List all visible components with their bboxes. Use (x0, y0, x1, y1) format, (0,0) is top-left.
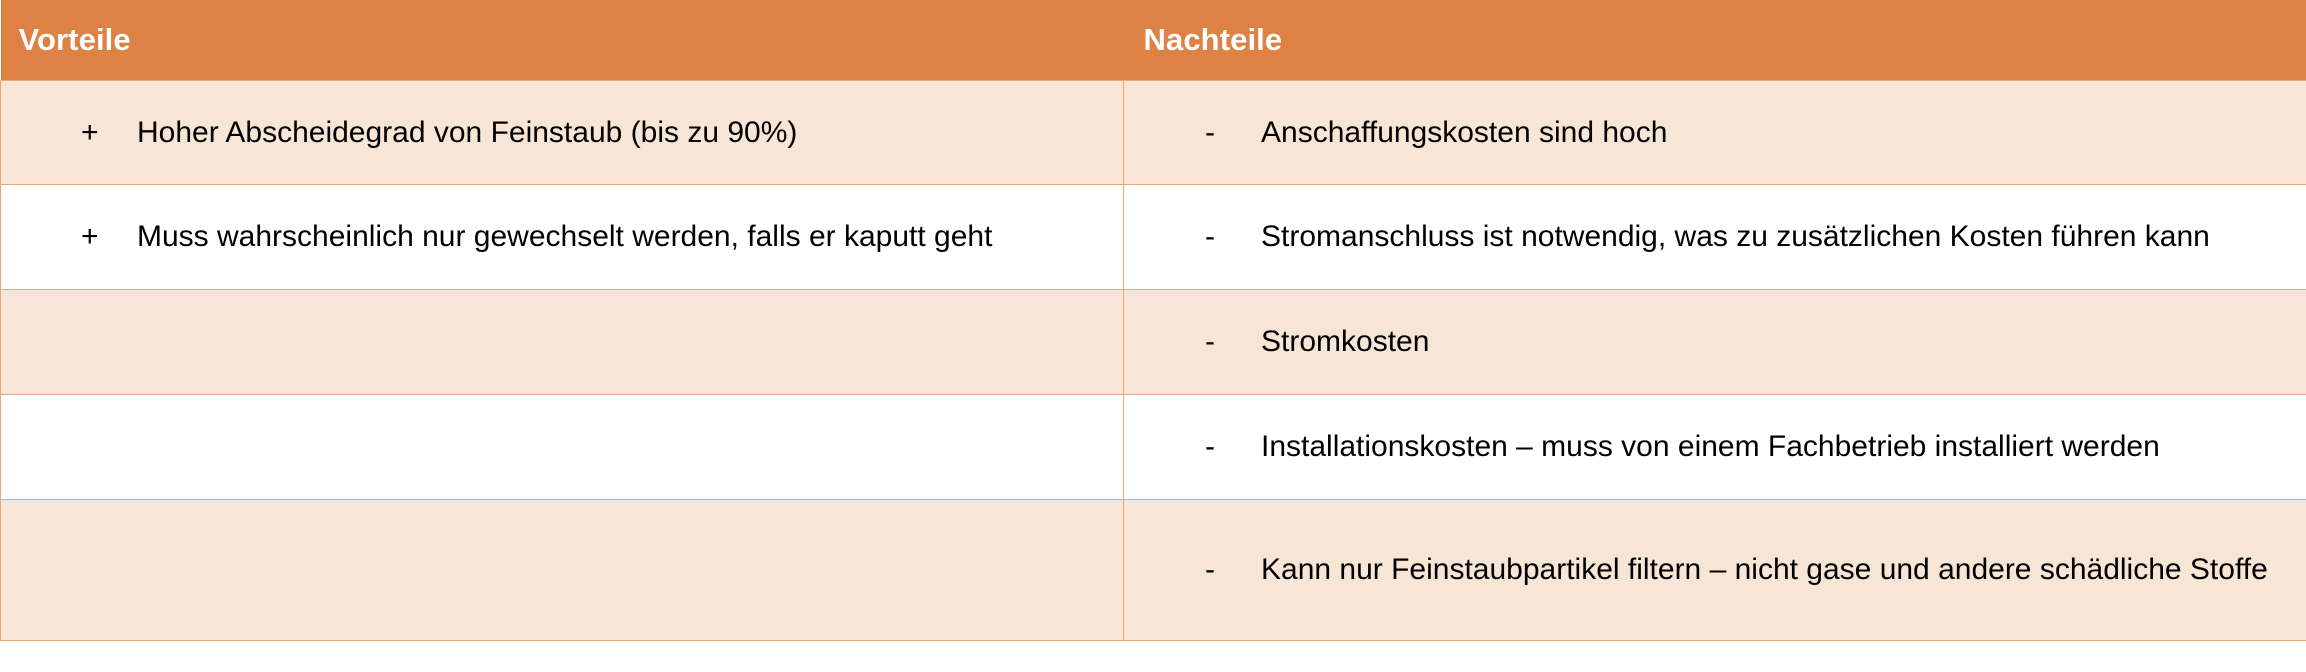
pro-cell-empty (1, 290, 1124, 395)
con-cell: - Installationskosten – muss von einem F… (1124, 395, 2306, 500)
plus-marker-icon: + (63, 215, 137, 259)
con-cell: - Anschaffungskosten sind hoch (1124, 81, 2306, 185)
pro-cell-empty (1, 500, 1124, 641)
minus-marker-icon: - (1186, 425, 1261, 469)
con-text: Installationskosten – muss von einem Fac… (1261, 425, 2304, 469)
table-row: - Stromkosten (1, 290, 2306, 395)
table-row: - Kann nur Feinstaubpartikel filtern – n… (1, 500, 2306, 641)
pro-cell: + Hoher Abscheidegrad von Feinstaub (bis… (1, 81, 1124, 185)
table-body: + Hoher Abscheidegrad von Feinstaub (bis… (1, 81, 2306, 641)
pro-cell-empty (1, 395, 1124, 500)
table-row: + Hoher Abscheidegrad von Feinstaub (bis… (1, 81, 2306, 185)
pros-cons-table: Vorteile Nachteile + Hoher Abscheidegrad… (0, 0, 2306, 641)
comparison-table-container: Vorteile Nachteile + Hoher Abscheidegrad… (0, 0, 2306, 672)
pro-text: Muss wahrscheinlich nur gewechselt werde… (137, 215, 1083, 259)
con-cell: - Kann nur Feinstaubpartikel filtern – n… (1124, 500, 2306, 641)
pro-cell: + Muss wahrscheinlich nur gewechselt wer… (1, 185, 1124, 290)
minus-marker-icon: - (1186, 111, 1261, 155)
column-header-vorteile: Vorteile (1, 0, 1124, 81)
column-header-nachteile: Nachteile (1124, 0, 2306, 81)
minus-marker-icon: - (1186, 320, 1261, 364)
pro-text: Hoher Abscheidegrad von Feinstaub (bis z… (137, 111, 1083, 155)
plus-marker-icon: + (63, 111, 137, 155)
table-row: + Muss wahrscheinlich nur gewechselt wer… (1, 185, 2306, 290)
con-text: Anschaffungskosten sind hoch (1261, 111, 2304, 155)
con-cell: - Stromanschluss ist notwendig, was zu z… (1124, 185, 2306, 290)
con-text: Stromkosten (1261, 320, 2304, 364)
table-header-row: Vorteile Nachteile (1, 0, 2306, 81)
con-text: Stromanschluss ist notwendig, was zu zus… (1261, 215, 2304, 259)
con-cell: - Stromkosten (1124, 290, 2306, 395)
minus-marker-icon: - (1186, 548, 1261, 592)
table-row: - Installationskosten – muss von einem F… (1, 395, 2306, 500)
con-text: Kann nur Feinstaubpartikel filtern – nic… (1261, 548, 2304, 592)
minus-marker-icon: - (1186, 215, 1261, 259)
table-header: Vorteile Nachteile (1, 0, 2306, 81)
